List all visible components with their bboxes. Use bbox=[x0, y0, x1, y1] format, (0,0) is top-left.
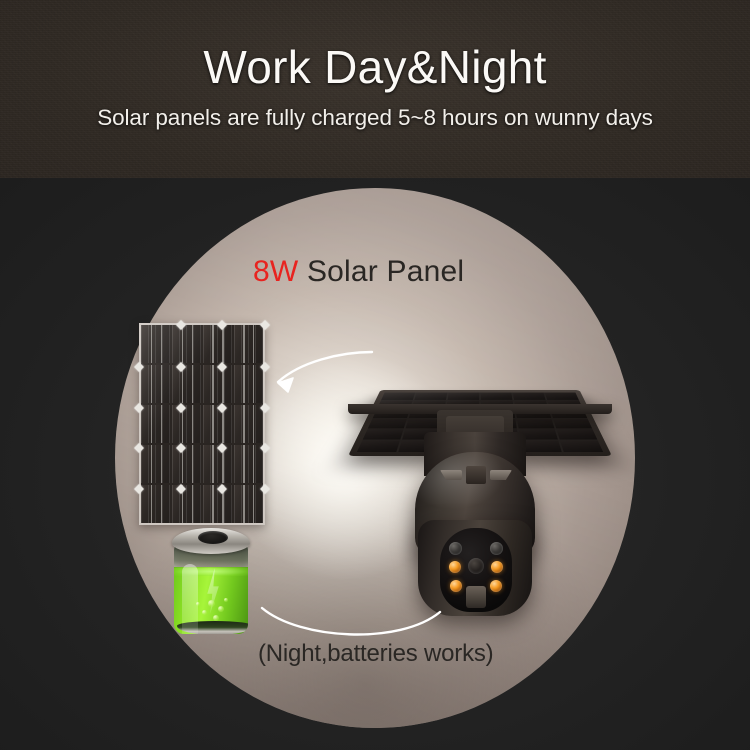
solar-cell-grid bbox=[141, 325, 263, 523]
amber-led bbox=[450, 580, 462, 592]
panel-name-text: Solar Panel bbox=[298, 255, 464, 288]
night-caption: (Night,batteries works) bbox=[258, 640, 493, 668]
ir-led bbox=[490, 542, 503, 555]
solar-cell bbox=[172, 485, 201, 523]
bubble bbox=[208, 600, 215, 607]
camera-dome-slot bbox=[466, 466, 486, 484]
solar-cell bbox=[203, 365, 232, 403]
solar-cell bbox=[203, 445, 232, 483]
solar-cell bbox=[141, 325, 170, 363]
solar-cell bbox=[141, 485, 170, 523]
bubble bbox=[224, 598, 228, 602]
solar-cell bbox=[141, 365, 170, 403]
page-title: Work Day&Night bbox=[0, 40, 750, 94]
solar-cell bbox=[234, 325, 263, 363]
solar-cell bbox=[234, 445, 263, 483]
rechargeable-battery bbox=[170, 528, 252, 640]
camera-lens bbox=[468, 558, 484, 574]
bubble bbox=[196, 602, 200, 606]
battery-base bbox=[177, 621, 248, 634]
panel-wattage-text: 8W bbox=[253, 255, 298, 288]
page-subtitle: Solar panels are fully charged 5~8 hours… bbox=[0, 105, 750, 131]
bubble bbox=[218, 606, 224, 612]
monocrystalline-solar-panel bbox=[139, 323, 265, 525]
battery-cap bbox=[172, 528, 250, 554]
panel-label: 8W Solar Panel bbox=[253, 255, 464, 289]
solar-cell bbox=[234, 405, 263, 443]
solar-cell bbox=[234, 365, 263, 403]
battery-glass-body bbox=[174, 544, 248, 634]
bubble bbox=[202, 610, 207, 615]
solar-cell bbox=[203, 405, 232, 443]
pir-sensor bbox=[466, 586, 486, 608]
solar-cell bbox=[203, 325, 232, 363]
solar-cell bbox=[141, 445, 170, 483]
solar-cell bbox=[234, 485, 263, 523]
battery-liquid-surface bbox=[174, 567, 248, 576]
solar-cell bbox=[172, 445, 201, 483]
solar-cell bbox=[141, 405, 170, 443]
battery-terminal bbox=[198, 531, 228, 544]
solar-cell bbox=[172, 325, 201, 363]
amber-led bbox=[491, 561, 503, 573]
product-feature-image: Work Day&Night Solar panels are fully ch… bbox=[0, 0, 750, 750]
amber-led bbox=[449, 561, 461, 573]
solar-cell bbox=[172, 405, 201, 443]
ir-led bbox=[449, 542, 462, 555]
amber-led bbox=[490, 580, 502, 592]
solar-cell bbox=[172, 365, 201, 403]
